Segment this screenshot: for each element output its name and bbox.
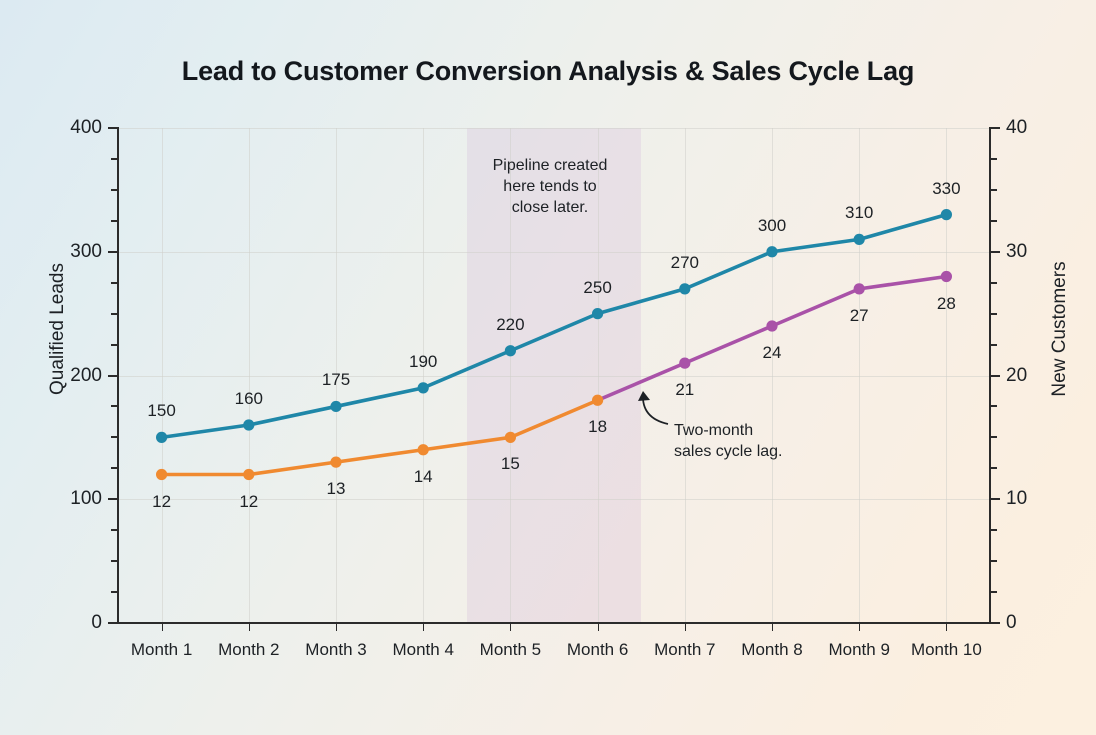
tick-x: [510, 623, 511, 631]
tick-x: [685, 623, 686, 631]
qualified-leads-value-label: 220: [496, 315, 524, 335]
new-customers-value-label: 27: [850, 306, 869, 326]
pipeline-note-annotation: Pipeline createdhere tends toclose later…: [460, 155, 640, 218]
annotation-line: here tends to: [460, 176, 640, 197]
new-customers-value-label: 28: [937, 294, 956, 314]
tick-x: [859, 623, 860, 631]
tick-x: [249, 623, 250, 631]
tick-right-minor: [990, 591, 997, 593]
tick-left-minor: [111, 436, 118, 438]
right-axis-title: New Customers: [1049, 219, 1071, 439]
tick-left-major: [108, 127, 118, 129]
tick-left-minor: [111, 189, 118, 191]
qualified-leads-value-label: 330: [932, 179, 960, 199]
chart-title: Lead to Customer Conversion Analysis & S…: [0, 56, 1096, 87]
right-tick-label: 0: [1006, 613, 1066, 632]
tick-x: [946, 623, 947, 631]
x-tick-label: Month 10: [886, 640, 1006, 660]
qualified-leads-value-label: 175: [322, 370, 350, 390]
left-tick-label: 0: [0, 613, 102, 632]
qualified-leads-value-label: 150: [147, 401, 175, 421]
tick-left-major: [108, 251, 118, 253]
new-customers-value-label: 18: [588, 417, 607, 437]
new-customers-value-label: 21: [675, 380, 694, 400]
qualified-leads-value-label: 270: [671, 253, 699, 273]
tick-right-major: [990, 375, 1000, 377]
tick-left-minor: [111, 467, 118, 469]
right-tick-label: 10: [1006, 489, 1066, 508]
tick-left-minor: [111, 529, 118, 531]
tick-right-minor: [990, 282, 997, 284]
tick-left-minor: [111, 591, 118, 593]
tick-left-minor: [111, 158, 118, 160]
tick-left-minor: [111, 282, 118, 284]
qualified-leads-value-label: 300: [758, 216, 786, 236]
qualified-leads-value-label: 190: [409, 352, 437, 372]
new-customers-value-label: 15: [501, 454, 520, 474]
tick-right-major: [990, 251, 1000, 253]
tick-right-minor: [990, 158, 997, 160]
tick-left-major: [108, 498, 118, 500]
new-customers-value-label: 13: [327, 479, 346, 499]
tick-right-minor: [990, 189, 997, 191]
gridline-horizontal: [118, 252, 990, 253]
tick-x: [772, 623, 773, 631]
tick-right-major: [990, 127, 1000, 129]
gridline-horizontal: [118, 376, 990, 377]
tick-right-major: [990, 498, 1000, 500]
annotation-line: Pipeline created: [460, 155, 640, 176]
qualified-leads-value-label: 160: [235, 389, 263, 409]
tick-right-major: [990, 622, 1000, 624]
new-customers-value-label: 12: [152, 492, 171, 512]
qualified-leads-value-label: 250: [583, 278, 611, 298]
tick-left-minor: [111, 220, 118, 222]
chart-figure: Lead to Customer Conversion Analysis & S…: [0, 0, 1096, 735]
qualified-leads-value-label: 310: [845, 203, 873, 223]
new-customers-value-label: 14: [414, 467, 433, 487]
tick-left-minor: [111, 313, 118, 315]
gridline-horizontal: [118, 128, 990, 129]
tick-left-major: [108, 375, 118, 377]
sales-cycle-lag-annotation: Two-monthsales cycle lag.: [674, 420, 864, 462]
tick-right-minor: [990, 436, 997, 438]
tick-x: [336, 623, 337, 631]
tick-right-minor: [990, 467, 997, 469]
left-axis-title: Qualified Leads: [47, 229, 69, 429]
tick-x: [598, 623, 599, 631]
annotation-line: sales cycle lag.: [674, 441, 864, 462]
tick-x: [423, 623, 424, 631]
left-tick-label: 100: [0, 489, 102, 508]
tick-right-minor: [990, 560, 997, 562]
tick-right-minor: [990, 344, 997, 346]
tick-right-minor: [990, 220, 997, 222]
right-tick-label: 40: [1006, 118, 1066, 137]
tick-left-major: [108, 622, 118, 624]
tick-left-minor: [111, 405, 118, 407]
tick-left-minor: [111, 344, 118, 346]
tick-x: [162, 623, 163, 631]
left-tick-label: 400: [0, 118, 102, 137]
new-customers-value-label: 24: [763, 343, 782, 363]
tick-left-minor: [111, 560, 118, 562]
tick-right-minor: [990, 405, 997, 407]
annotation-line: close later.: [460, 197, 640, 218]
new-customers-value-label: 12: [239, 492, 258, 512]
annotation-line: Two-month: [674, 420, 864, 441]
tick-right-minor: [990, 529, 997, 531]
tick-right-minor: [990, 313, 997, 315]
